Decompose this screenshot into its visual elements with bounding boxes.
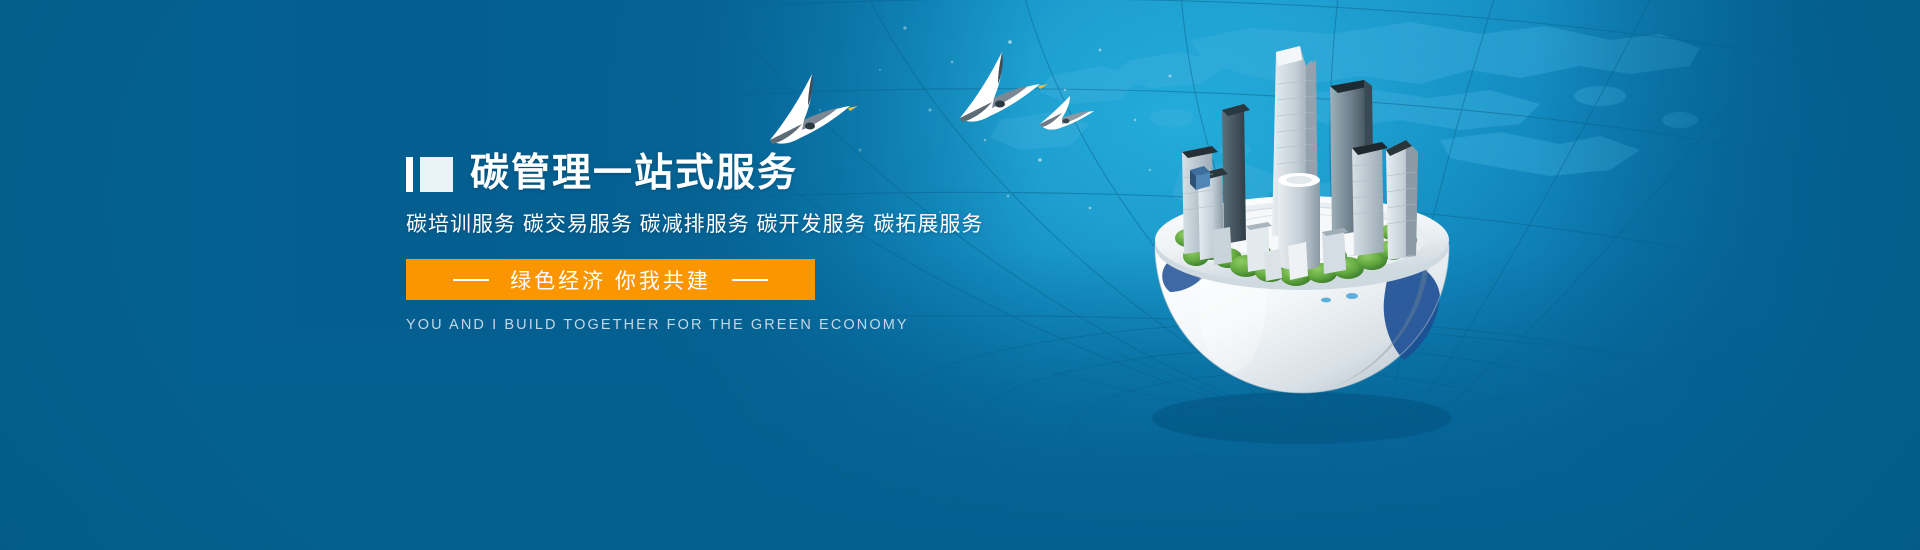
headline-block: 碳管理一站式服务 碳培训服务 碳交易服务 碳减排服务 碳开发服务 碳拓展服务 绿… <box>406 150 1126 333</box>
accent-cube <box>1190 166 1210 190</box>
brand-mark <box>406 157 453 192</box>
right-dash-icon <box>732 279 768 281</box>
services-subtitle: 碳培训服务 碳交易服务 碳减排服务 碳开发服务 碳拓展服务 <box>406 208 1126 238</box>
vertical-bar-icon <box>406 157 413 192</box>
left-dash-icon <box>453 279 489 281</box>
page-title: 碳管理一站式服务 <box>470 154 798 193</box>
title-row: 碳管理一站式服务 <box>406 150 1126 196</box>
english-tagline: YOU AND I BUILD TOGETHER FOR THE GREEN E… <box>406 317 1126 333</box>
seagull-medium <box>770 74 858 144</box>
slogan-bar: 绿色经济 你我共建 <box>406 259 815 300</box>
hero-banner: 碳管理一站式服务 碳培训服务 碳交易服务 碳减排服务 碳开发服务 碳拓展服务 绿… <box>0 0 1920 550</box>
slogan-text: 绿色经济 你我共建 <box>510 265 711 295</box>
3d-city-skyline <box>1182 46 1418 281</box>
seagull-large <box>960 52 1048 122</box>
seagull-small <box>1040 96 1094 130</box>
filled-square-icon <box>420 157 453 192</box>
